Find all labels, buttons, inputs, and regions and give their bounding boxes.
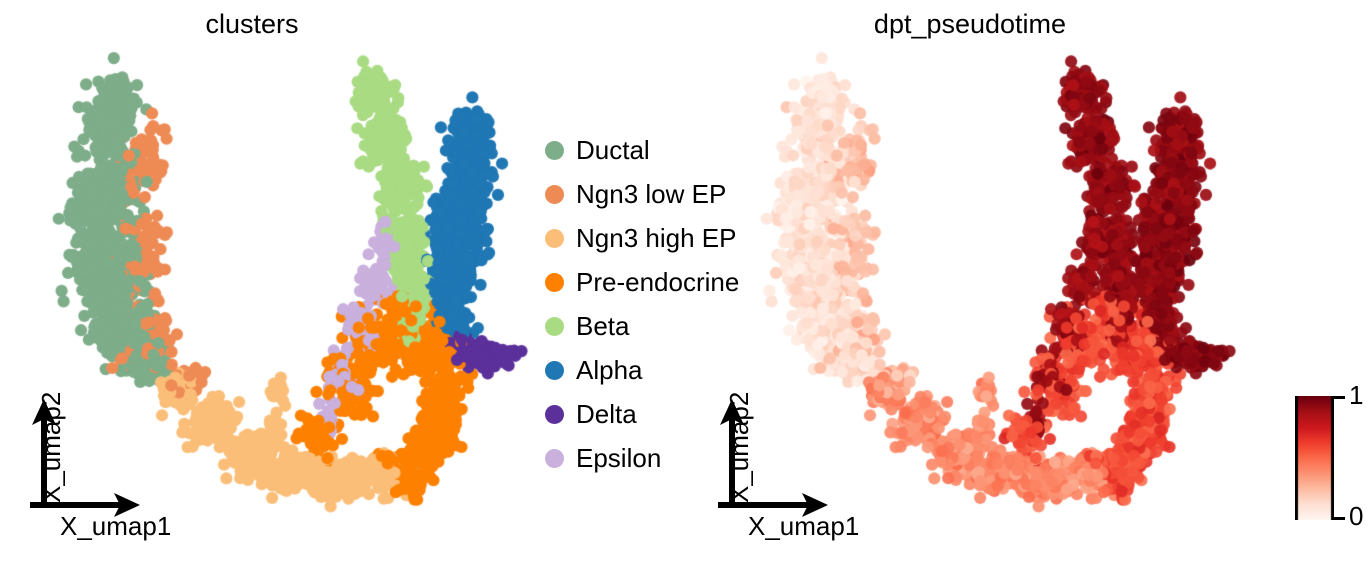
legend-color-swatch-alpha bbox=[545, 361, 564, 380]
colorbar-dpt-pseudotime: 1 0 bbox=[1295, 396, 1369, 561]
axis-indicator-clusters: X_umap1 X_umap2 bbox=[18, 385, 208, 575]
legend-label-alpha: Alpha bbox=[576, 357, 643, 383]
colorbar-tick-label-min: 0 bbox=[1349, 503, 1363, 529]
colorbar-gradient bbox=[1295, 396, 1334, 520]
legend-color-swatch-pre-endocrine bbox=[545, 273, 564, 292]
legend-label-delta: Delta bbox=[576, 401, 637, 427]
legend-label-epsilon: Epsilon bbox=[576, 445, 661, 471]
legend-color-swatch-beta bbox=[545, 317, 564, 336]
axis-label-x-dpt-pseudotime: X_umap1 bbox=[748, 511, 859, 542]
axis-label-y-dpt-pseudotime: X_umap2 bbox=[724, 392, 755, 503]
legend-color-swatch-ngn3-high-ep bbox=[545, 229, 564, 248]
legend-color-swatch-epsilon bbox=[545, 449, 564, 468]
axis-indicator-dpt-pseudotime: X_umap1 X_umap2 bbox=[706, 385, 896, 575]
colorbar-tick-top bbox=[1334, 396, 1345, 399]
figure-root: clusters X_umap1 X_umap2 Ductal Ngn3 low… bbox=[0, 0, 1369, 578]
legend-label-ductal: Ductal bbox=[576, 137, 650, 163]
colorbar-tick-bottom bbox=[1334, 517, 1345, 520]
legend-color-swatch-delta bbox=[545, 405, 564, 424]
legend-color-swatch-ngn3-low-ep bbox=[545, 185, 564, 204]
axis-label-y-clusters: X_umap2 bbox=[36, 392, 67, 503]
axis-label-x-clusters: X_umap1 bbox=[60, 511, 171, 542]
legend-label-beta: Beta bbox=[576, 313, 630, 339]
colorbar-tick-label-max: 1 bbox=[1349, 382, 1363, 408]
legend-color-swatch-ductal bbox=[545, 141, 564, 160]
